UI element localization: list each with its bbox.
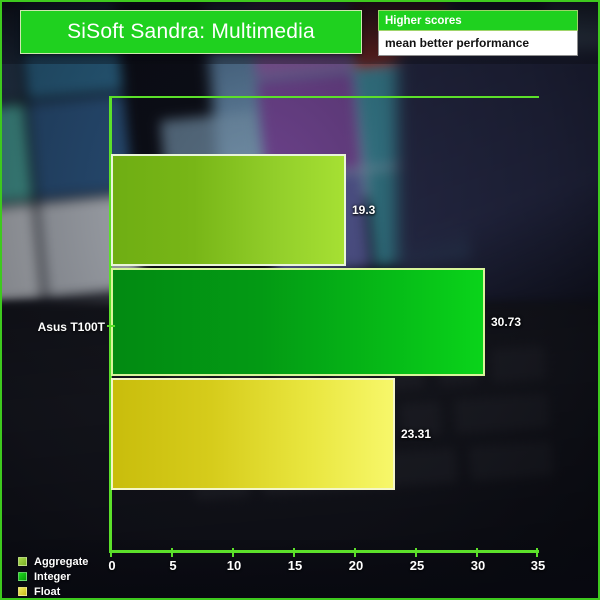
- notes-box: Higher scores mean better performance: [378, 10, 578, 56]
- legend-item-aggregate[interactable]: Aggregate: [18, 555, 88, 568]
- plot-area: 19.3 30.73 23.31: [111, 96, 537, 551]
- bar-label-aggregate: 19.3: [352, 203, 375, 217]
- legend-swatch-integer: [18, 572, 27, 581]
- x-tick-30: [476, 548, 478, 557]
- notes-body: mean better performance: [378, 31, 578, 56]
- bar-label-float: 23.31: [401, 427, 431, 441]
- y-axis-category-label: Asus T100T: [2, 318, 105, 336]
- legend-label-integer: Integer: [34, 571, 71, 583]
- legend-swatch-float: [18, 587, 27, 596]
- bar-integer[interactable]: [111, 268, 485, 376]
- legend-label-float: Float: [34, 586, 60, 598]
- x-tick-0: [110, 548, 112, 557]
- x-label-5: 5: [169, 558, 176, 573]
- notes-body-label: mean better performance: [385, 36, 529, 50]
- page-title: SiSoft Sandra: Multimedia: [67, 20, 315, 44]
- x-tick-15: [293, 548, 295, 557]
- bar-float[interactable]: [111, 378, 395, 490]
- x-tick-10: [232, 548, 234, 557]
- bar-aggregate[interactable]: [111, 154, 346, 266]
- x-label-0: 0: [108, 558, 115, 573]
- x-tick-35: [536, 548, 538, 557]
- legend-label-aggregate: Aggregate: [34, 556, 88, 568]
- category-label-text: Asus T100T: [38, 320, 105, 334]
- legend: Aggregate Integer Float: [18, 555, 88, 600]
- x-axis-line: [109, 550, 539, 553]
- chart-title-box: SiSoft Sandra: Multimedia: [20, 10, 362, 54]
- x-label-35: 35: [531, 558, 545, 573]
- x-label-20: 20: [349, 558, 363, 573]
- x-label-30: 30: [471, 558, 485, 573]
- x-tick-25: [415, 548, 417, 557]
- notes-header: Higher scores: [378, 10, 578, 31]
- x-label-25: 25: [410, 558, 424, 573]
- legend-item-integer[interactable]: Integer: [18, 570, 88, 583]
- chart-window: SiSoft Sandra: Multimedia Higher scores …: [0, 0, 600, 600]
- plot-top-border: [111, 96, 539, 98]
- x-tick-20: [354, 548, 356, 557]
- notes-header-label: Higher scores: [385, 15, 462, 27]
- legend-swatch-aggregate: [18, 557, 27, 566]
- x-label-10: 10: [227, 558, 241, 573]
- y-axis-tick: [107, 325, 115, 327]
- x-tick-5: [171, 548, 173, 557]
- bar-label-integer: 30.73: [491, 315, 521, 329]
- x-label-15: 15: [288, 558, 302, 573]
- legend-item-float[interactable]: Float: [18, 585, 88, 598]
